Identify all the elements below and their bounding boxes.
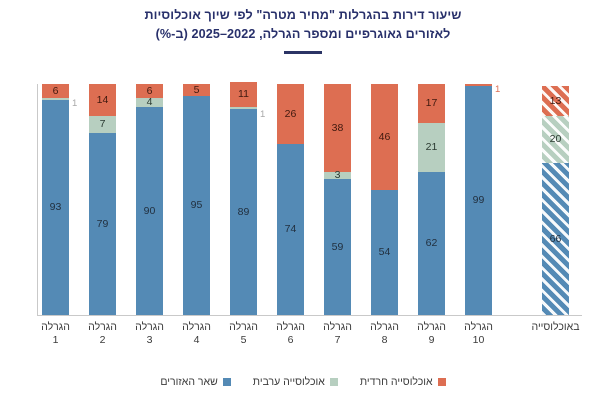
bar-value-label: 79 — [97, 219, 109, 230]
x-tick-label: הגרלה5 — [217, 321, 271, 346]
legend-swatch-arab — [330, 378, 338, 386]
bar-column[interactable]: 38359 — [324, 84, 351, 315]
bar-segment-rest[interactable]: 62 — [418, 172, 445, 315]
bar-segment-haredi[interactable]: 6 — [42, 84, 69, 98]
bar-value-label: 89 — [238, 207, 250, 218]
bar-segment-haredi[interactable]: 11 — [230, 82, 257, 107]
bar-segment-haredi[interactable]: 13 — [542, 86, 569, 116]
x-tick-line-1: הגרלה — [170, 321, 224, 334]
bar-segment-rest[interactable]: 99 — [465, 86, 492, 315]
bar-segment-rest[interactable]: 74 — [277, 144, 304, 315]
bar-segment-rest[interactable]: 66 — [542, 163, 569, 315]
x-tick-line-1: באוכלוסייה — [529, 321, 583, 334]
bar-value-label: 93 — [50, 202, 62, 213]
x-tick-line-1: הגרלה — [311, 321, 365, 334]
outside-value-label: 1 — [260, 110, 265, 120]
legend-item-rest[interactable]: שאר האזורים — [160, 376, 230, 388]
bar-segment-rest[interactable]: 59 — [324, 179, 351, 315]
bar-segment-arab[interactable]: 21 — [418, 123, 445, 172]
bar-column[interactable]: 2674 — [277, 84, 304, 315]
bar-column[interactable]: 1189 — [230, 82, 257, 315]
bar-value-label: 99 — [473, 195, 485, 206]
bar-column[interactable]: 172162 — [418, 84, 445, 315]
bar-segment-arab[interactable]: 3 — [324, 172, 351, 179]
x-tick-line-1: הגרלה — [76, 321, 130, 334]
x-tick-line-2: 9 — [405, 334, 459, 347]
x-tick-line-1: הגרלה — [264, 321, 318, 334]
bar-segment-arab[interactable]: 7 — [89, 116, 116, 132]
bar-value-label: 95 — [191, 200, 203, 211]
x-tick-line-2: 10 — [452, 334, 506, 347]
bar-value-label: 90 — [144, 206, 156, 217]
x-tick-line-2: 3 — [123, 334, 177, 347]
bar-segment-haredi[interactable]: 38 — [324, 84, 351, 172]
x-tick-line-2: 6 — [264, 334, 318, 347]
outside-value-label: 1 — [495, 85, 500, 95]
bar-value-label: 6 — [53, 86, 59, 97]
bar-value-label: 46 — [379, 132, 391, 143]
bar-value-label: 14 — [97, 95, 109, 106]
bar-value-label: 59 — [332, 242, 344, 253]
x-tick-line-2: 8 — [358, 334, 412, 347]
x-tick-line-1: הגרלה — [405, 321, 459, 334]
bar-segment-rest[interactable]: 79 — [89, 133, 116, 315]
legend-item-haredi[interactable]: אוכלוסייה חרדית — [360, 376, 446, 388]
x-tick-line-1: הגרלה — [29, 321, 83, 334]
outside-value-label: 1 — [72, 99, 77, 109]
bar-segment-arab[interactable]: 20 — [542, 116, 569, 162]
legend-label-arab: אוכלוסייה ערבית — [253, 376, 325, 388]
bar-segment-rest[interactable]: 95 — [183, 96, 210, 315]
bar-value-label: 62 — [426, 238, 438, 249]
x-tick-line-2: 5 — [217, 334, 271, 347]
bar-segment-rest[interactable]: 93 — [42, 100, 69, 315]
x-tick-line-1: הגרלה — [358, 321, 412, 334]
bar-value-label: 13 — [550, 96, 562, 107]
bar-value-label: 20 — [550, 134, 562, 145]
bar-column[interactable]: 14779 — [89, 84, 116, 315]
bar-segment-haredi[interactable]: 17 — [418, 84, 445, 123]
bar-segment-haredi[interactable]: 5 — [183, 84, 210, 96]
x-tick-label: באוכלוסייה — [529, 321, 583, 334]
bar-column[interactable]: 595 — [183, 84, 210, 315]
x-tick-line-1: הגרלה — [452, 321, 506, 334]
x-tick-label: הגרלה8 — [358, 321, 412, 346]
x-tick-line-1: הגרלה — [123, 321, 177, 334]
x-tick-line-2: 1 — [29, 334, 83, 347]
bar-value-label: 66 — [550, 234, 562, 245]
x-tick-label: הגרלה9 — [405, 321, 459, 346]
bar-value-label: 6 — [147, 86, 153, 97]
x-tick-label: הגרלה6 — [264, 321, 318, 346]
bar-segment-haredi[interactable]: 6 — [136, 84, 163, 98]
bar-column[interactable]: 6490 — [136, 84, 163, 315]
bar-segment-haredi[interactable]: 26 — [277, 84, 304, 144]
legend-swatch-haredi — [438, 378, 446, 386]
legend-label-haredi: אוכלוסייה חרדית — [360, 376, 433, 388]
bar-value-label: 5 — [194, 85, 200, 96]
bar-column[interactable]: 99 — [465, 84, 492, 315]
x-tick-line-2: 2 — [76, 334, 130, 347]
bar-value-label: 11 — [238, 89, 249, 100]
legend-swatch-rest — [223, 378, 231, 386]
bar-value-label: 7 — [100, 119, 106, 130]
x-tick-label: הגרלה2 — [76, 321, 130, 346]
bar-value-label: 54 — [379, 247, 391, 258]
x-tick-label: הגרלה4 — [170, 321, 224, 346]
legend-item-arab[interactable]: אוכלוסייה ערבית — [253, 376, 338, 388]
x-tick-label: הגרלה1 — [29, 321, 83, 346]
x-tick-label: הגרלה10 — [452, 321, 506, 346]
bar-value-label: 26 — [285, 109, 297, 120]
x-axis-line — [37, 315, 582, 316]
x-tick-label: הגרלה3 — [123, 321, 177, 346]
x-tick-line-2: 7 — [311, 334, 365, 347]
bar-segment-arab[interactable]: 4 — [136, 98, 163, 107]
bar-value-label: 74 — [285, 224, 297, 235]
chart-plot-area: 6931477964905951189267438359465417216299… — [0, 0, 606, 416]
legend-label-rest: שאר האזורים — [160, 376, 217, 388]
bar-segment-haredi[interactable]: 46 — [371, 84, 398, 190]
x-tick-line-1: הגרלה — [217, 321, 271, 334]
y-axis-line — [37, 84, 38, 315]
bar-column[interactable]: 693 — [42, 84, 69, 315]
chart-legend: אוכלוסייה חרדיתאוכלוסייה ערביתשאר האזורי… — [0, 376, 606, 388]
bar-segment-rest[interactable]: 89 — [230, 109, 257, 315]
x-tick-label: הגרלה7 — [311, 321, 365, 346]
bar-segment-rest[interactable]: 54 — [371, 190, 398, 315]
x-tick-line-2: 4 — [170, 334, 224, 347]
bar-value-label: 38 — [332, 123, 344, 134]
bar-segment-rest[interactable]: 90 — [136, 107, 163, 315]
bar-segment-haredi[interactable]: 14 — [89, 84, 116, 116]
bar-column[interactable]: 4654 — [371, 84, 398, 315]
bar-value-label: 21 — [426, 142, 438, 153]
bar-value-label: 17 — [426, 98, 438, 109]
bar-column[interactable]: 132066 — [542, 86, 569, 315]
